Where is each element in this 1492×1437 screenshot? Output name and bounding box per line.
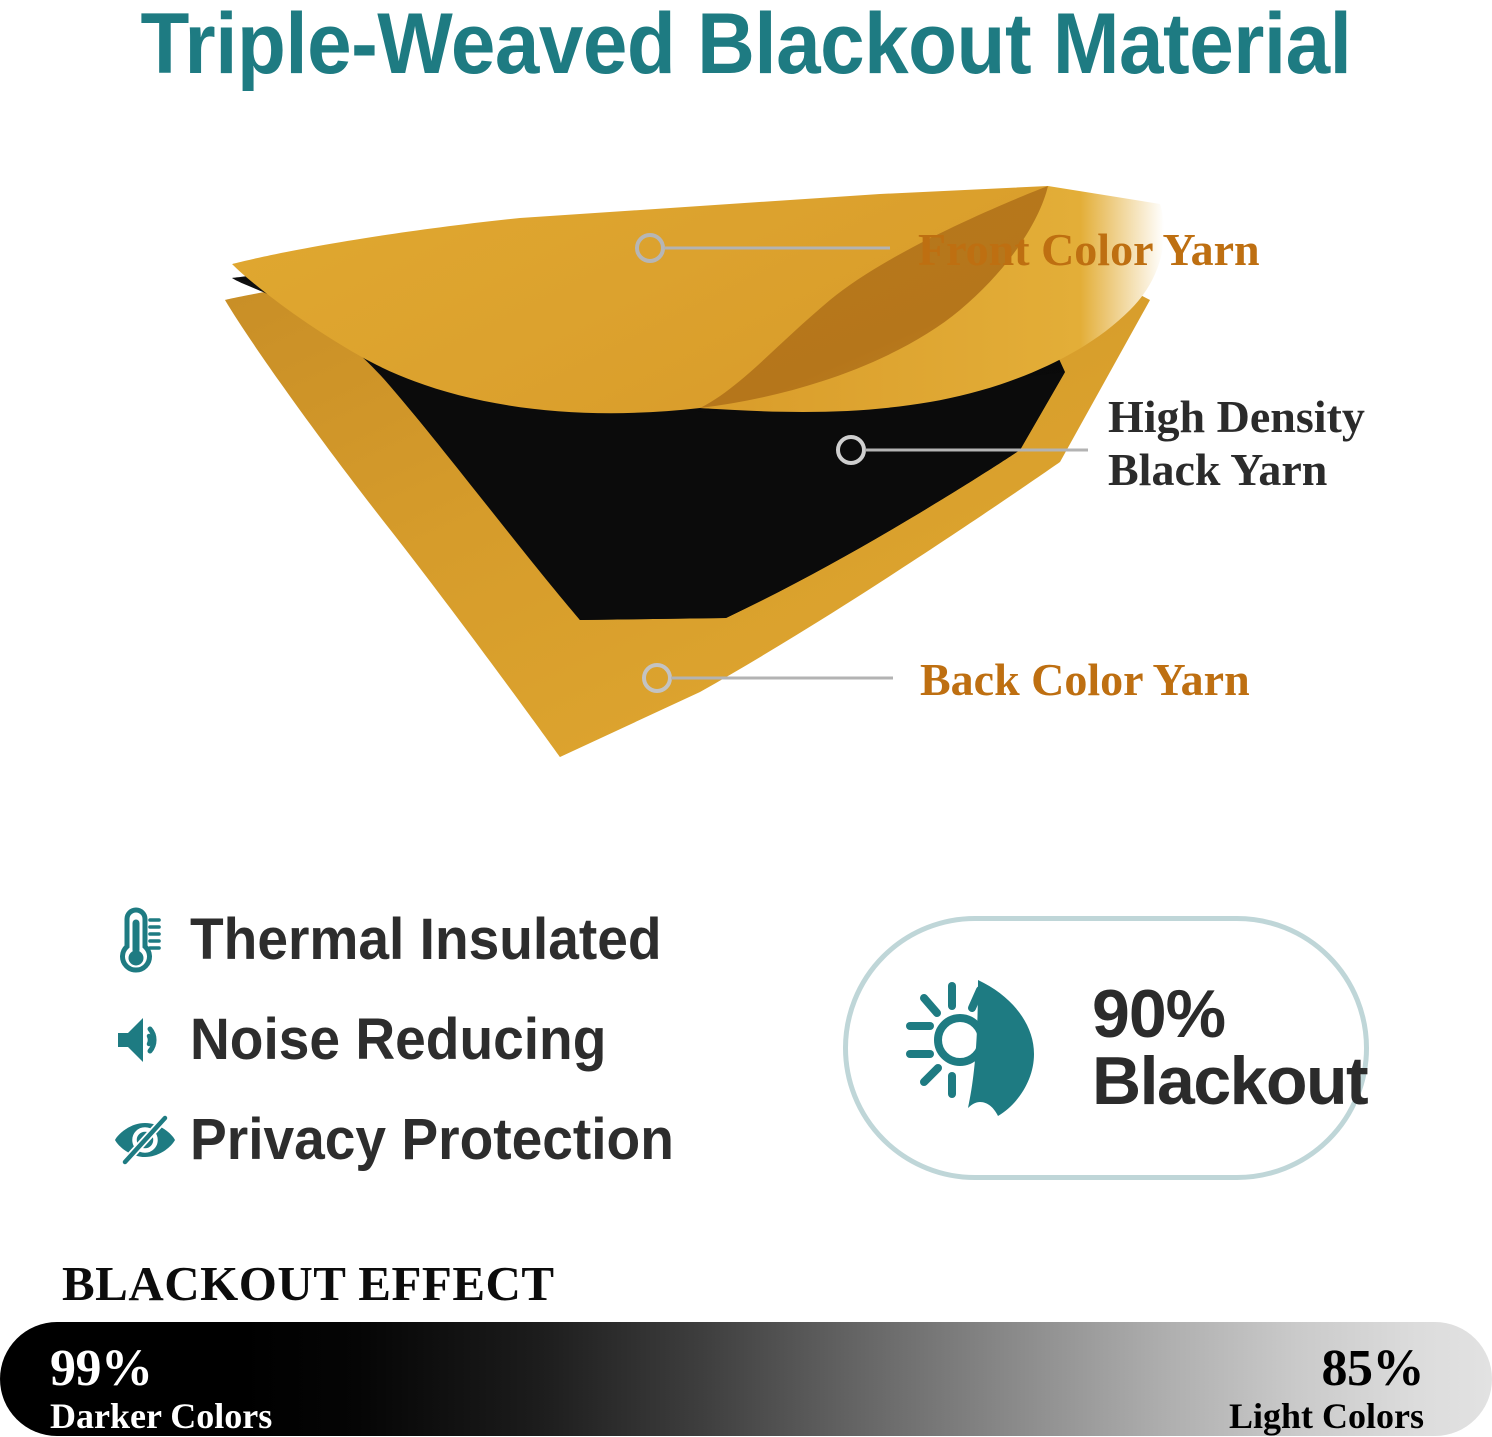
feature-thermal-insulated: Thermal Insulated — [112, 898, 812, 982]
stat-light-colors-caption: Light Colors — [1229, 1395, 1424, 1437]
sun-blocked-icon — [894, 968, 1074, 1128]
stat-light-colors-value: 85% — [1229, 1343, 1424, 1395]
page-title: Triple-Weaved Blackout Material — [52, 0, 1440, 94]
blackout-badge: 90% Blackout — [843, 916, 1369, 1180]
blackout-word: Blackout — [1092, 1048, 1367, 1115]
blackout-effect-heading: BLACKOUT EFFECT — [62, 1256, 555, 1312]
label-back-color-yarn: Back Color Yarn — [920, 653, 1250, 707]
thermometer-icon — [112, 904, 190, 976]
stat-light-colors: 85% Light Colors — [1229, 1343, 1424, 1437]
label-front-color-yarn: Front Color Yarn — [918, 223, 1260, 277]
speaker-volume-icon — [112, 1011, 190, 1069]
feature-list: Thermal Insulated Noise Reducing Privacy… — [112, 898, 812, 1198]
label-black-yarn-line2: Black Yarn — [1108, 443, 1365, 496]
blackout-percent: 90% — [1092, 981, 1367, 1048]
label-black-yarn-line1: High Density — [1108, 390, 1365, 443]
eye-slash-icon — [112, 1115, 190, 1165]
stat-darker-colors: 99% Darker Colors — [50, 1343, 272, 1437]
stat-darker-colors-caption: Darker Colors — [50, 1395, 272, 1437]
feature-noise-reducing: Noise Reducing — [112, 998, 812, 1082]
blackout-badge-text: 90% Blackout — [1092, 981, 1367, 1114]
label-high-density-black-yarn: High Density Black Yarn — [1108, 390, 1365, 496]
fabric-layers-diagram — [0, 150, 1492, 850]
feature-label-privacy-protection: Privacy Protection — [190, 1109, 674, 1171]
feature-privacy-protection: Privacy Protection — [112, 1098, 812, 1182]
stat-darker-colors-value: 99% — [50, 1343, 272, 1395]
feature-label-thermal-insulated: Thermal Insulated — [190, 909, 662, 971]
feature-label-noise-reducing: Noise Reducing — [190, 1009, 606, 1071]
